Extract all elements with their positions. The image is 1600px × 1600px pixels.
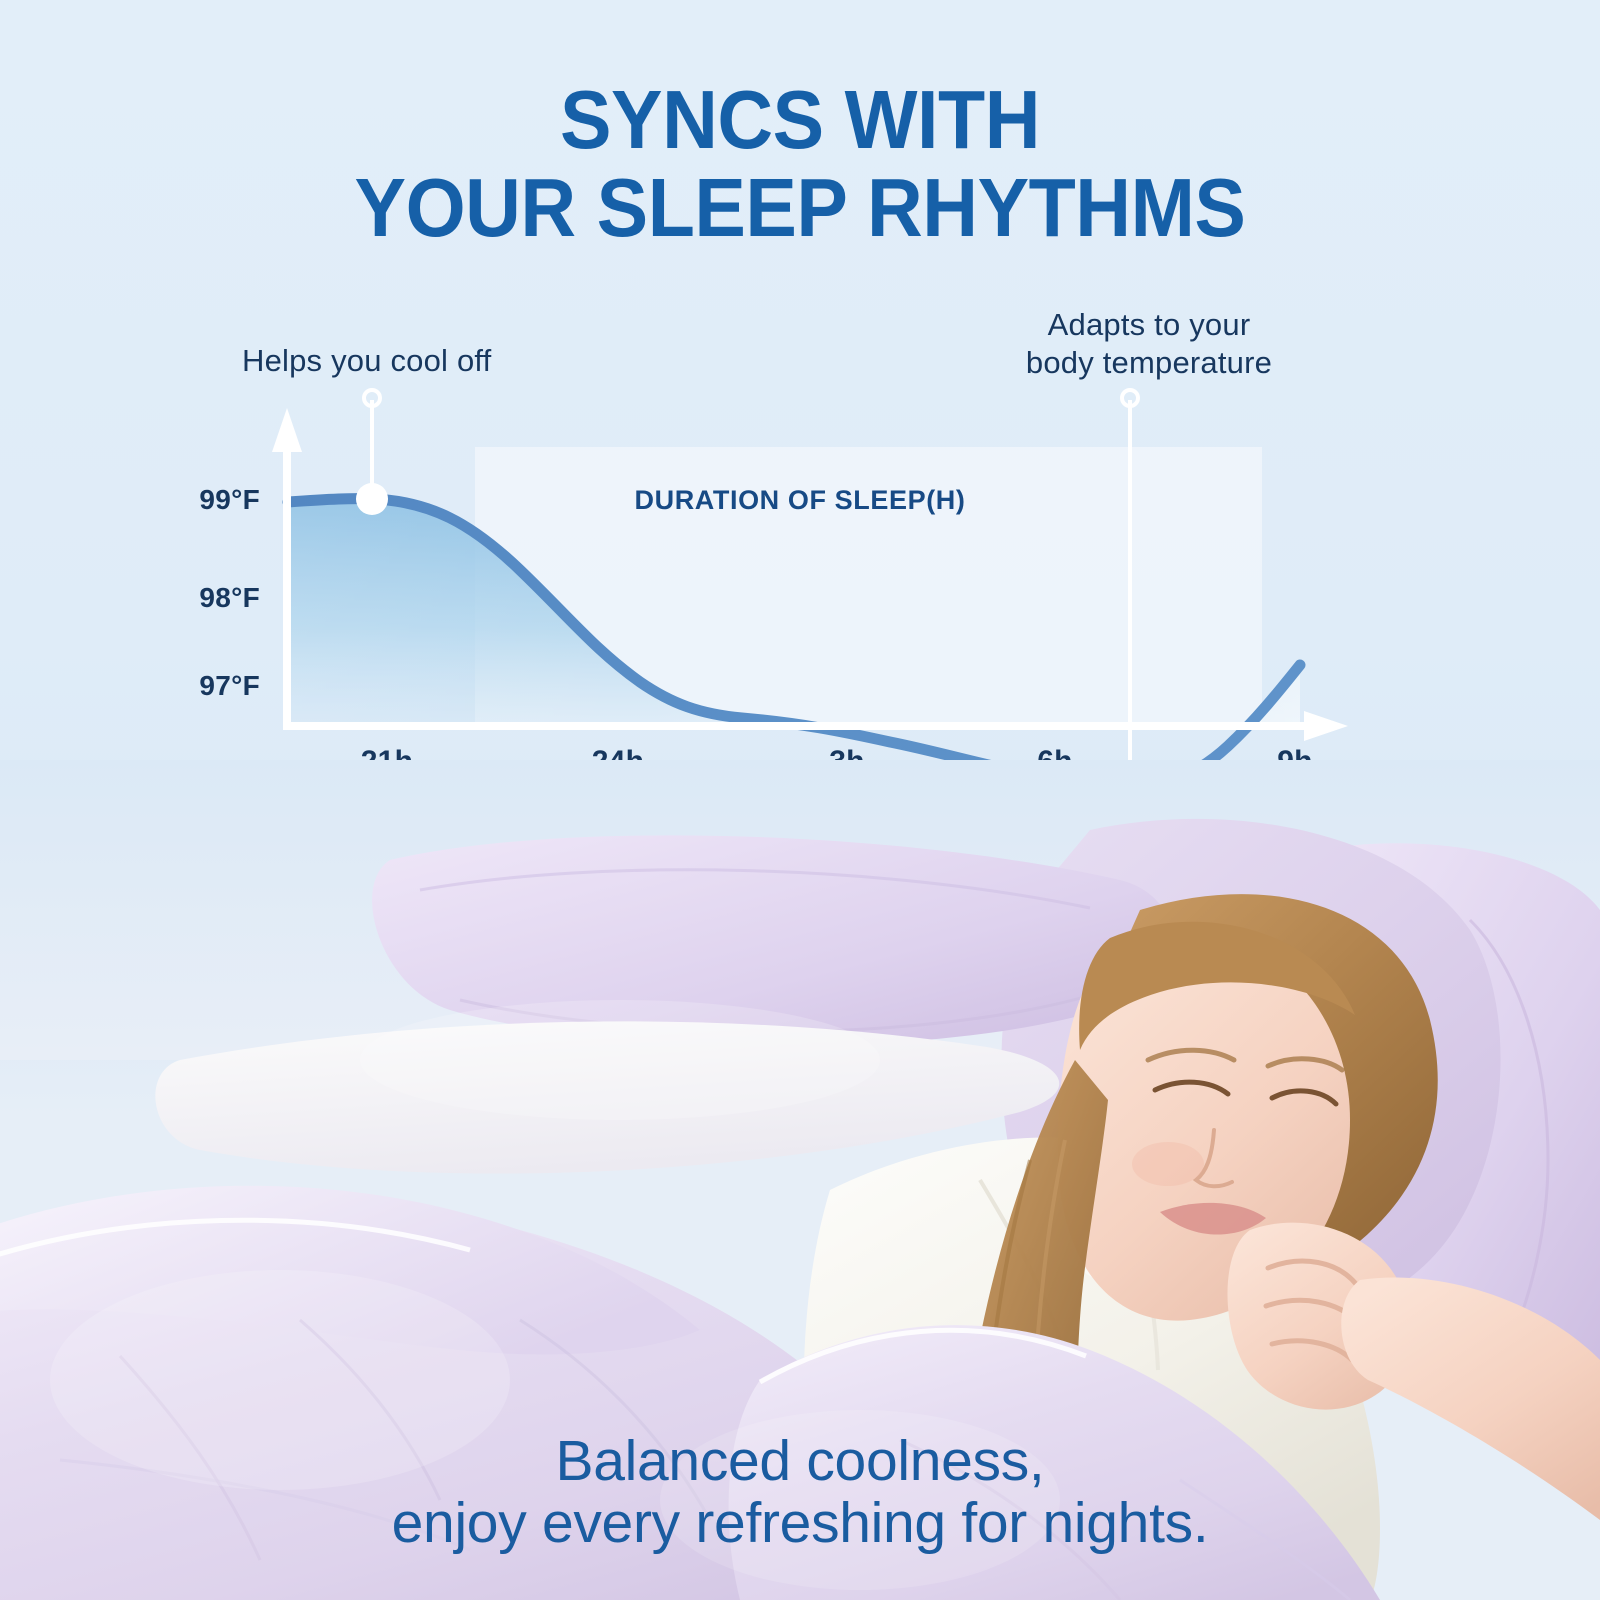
y-tick-98f: 98°F [150,582,260,614]
y-tick-99f: 99°F [150,484,260,516]
chart-svg [0,290,1600,800]
tagline: Balanced coolness, enjoy every refreshin… [0,1430,1600,1554]
sleeping-woman-photo: Balanced coolness, enjoy every refreshin… [0,760,1600,1600]
temperature-chart: Helps you cool off Adapts to your body t… [0,290,1600,800]
poster-canvas: SYNCS WITH YOUR SLEEP RHYTHMS [0,0,1600,1600]
page-title: SYNCS WITH YOUR SLEEP RHYTHMS [56,76,1544,252]
annotation-helps-you-cool-off: Helps you cool off [242,342,491,380]
annotation-adapts-body-temperature: Adapts to your body temperature [1014,306,1284,382]
y-tick-97f: 97°F [150,670,260,702]
